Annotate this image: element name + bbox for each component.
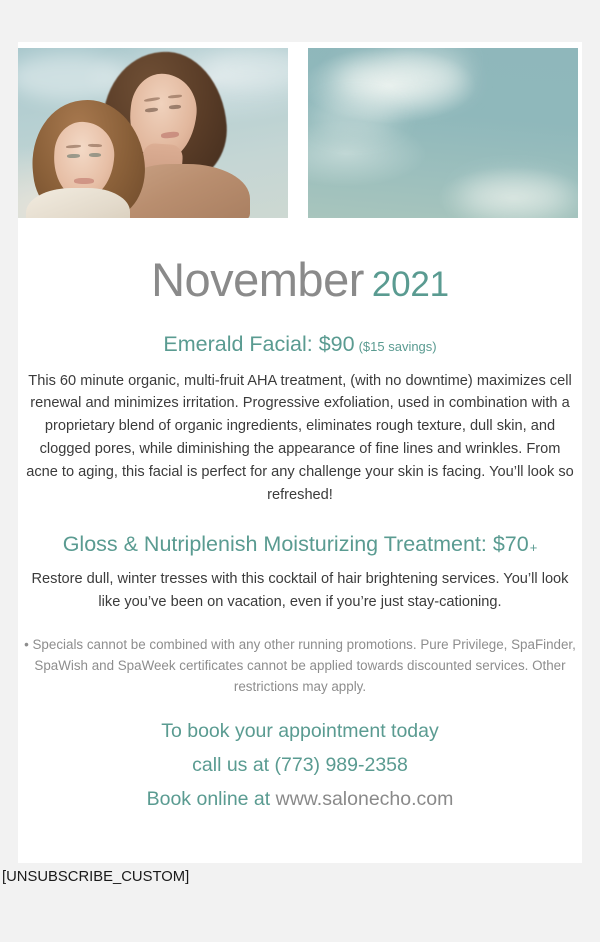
model-front-eye <box>89 153 101 157</box>
hero-image-row <box>18 48 582 218</box>
booking-line-1: To book your appointment today <box>18 715 582 749</box>
cloud-shape <box>312 100 398 134</box>
offer-title-facial-text: Emerald Facial: $90 <box>163 332 354 356</box>
offer-description-facial: This 60 minute organic, multi-fruit AHA … <box>22 370 578 507</box>
booking-online-label: Book online at <box>147 788 271 810</box>
fine-print-disclaimer: • Specials cannot be combined with any o… <box>22 634 578 697</box>
hero-image-models <box>18 48 288 218</box>
email-body: November2021 Emerald Facial: $90($15 sav… <box>18 42 582 863</box>
offer-title-gloss-text: Gloss & Nutriplenish Moisturizing Treatm… <box>63 532 529 556</box>
offer-title-gloss: Gloss & Nutriplenish Moisturizing Treatm… <box>18 532 582 557</box>
offer-price-plus: + <box>530 540 538 555</box>
offer-savings-badge: ($15 savings) <box>359 339 437 354</box>
page-title: November2021 <box>18 256 582 303</box>
offer-description-gloss: Restore dull, winter tresses with this c… <box>22 568 578 614</box>
title-year: 2021 <box>372 265 449 304</box>
newsletter-content: November2021 Emerald Facial: $90($15 sav… <box>18 218 582 816</box>
model-front-lips <box>74 178 94 184</box>
offer-title-facial: Emerald Facial: $90($15 savings) <box>18 332 582 357</box>
title-month: November <box>151 253 364 306</box>
cloud-shape <box>460 176 570 216</box>
booking-line-2: call us at (773) 989-2358 <box>18 749 582 783</box>
booking-line-3: Book online at www.salonecho.com <box>18 783 582 817</box>
hero-image-sky <box>308 48 578 218</box>
unsubscribe-link[interactable]: [UNSUBSCRIBE_CUSTOM] <box>2 870 189 885</box>
booking-block: To book your appointment today call us a… <box>18 715 582 817</box>
cloud-shape <box>388 48 468 74</box>
model-front-brow <box>88 144 102 147</box>
website-link[interactable]: www.salonecho.com <box>276 788 454 810</box>
